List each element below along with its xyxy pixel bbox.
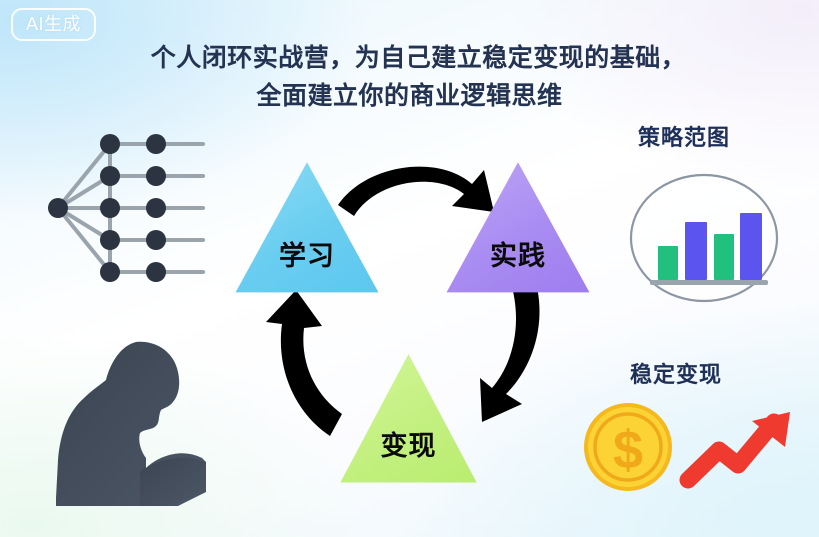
chart-bar-1	[658, 246, 678, 280]
chart-baseline	[650, 280, 768, 285]
cycle-node-practice[interactable]: 实践	[442, 158, 594, 298]
cycle-node-learn[interactable]: 学习	[231, 158, 383, 298]
chart-bar-4	[740, 213, 762, 280]
learning-cycle-diagram: 学习 实践 变现	[226, 150, 596, 495]
strategy-label: 策略范图	[638, 120, 730, 152]
page-title: 个人闭环实战营，为自己建立稳定变现的基础， 全面建立你的商业逻辑思维	[0, 40, 819, 115]
chart-bar-2	[685, 222, 707, 280]
trending-up-arrow-icon	[688, 422, 774, 480]
cycle-node-monetize[interactable]: 变现	[336, 350, 481, 488]
bar-chart-circle-icon	[624, 172, 784, 304]
network-tree-icon	[38, 125, 213, 290]
cycle-node-practice-label: 实践	[442, 234, 594, 273]
poster-canvas: AI生成 个人闭环实战营，为自己建立稳定变现的基础， 全面建立你的商业逻辑思维	[0, 0, 819, 537]
page-title-line-2: 全面建立你的商业逻辑思维	[0, 78, 819, 116]
svg-text:$: $	[613, 420, 643, 480]
chart-bar-3	[714, 234, 734, 280]
triangle-shape-learn	[231, 158, 383, 298]
monetize-label: 稳定变现	[630, 357, 722, 389]
monetize-icons: $	[580, 392, 800, 502]
triangle-shape-practice	[442, 158, 594, 298]
ai-generated-badge: AI生成	[11, 8, 96, 41]
cycle-node-learn-label: 学习	[231, 234, 383, 273]
cycle-node-monetize-label: 变现	[336, 424, 481, 463]
dollar-coin-icon: $	[584, 403, 672, 491]
person-reading-icon	[28, 330, 238, 525]
triangle-shape-monetize	[336, 350, 481, 488]
page-title-line-1: 个人闭环实战营，为自己建立稳定变现的基础，	[0, 40, 819, 78]
arrow-monetize-to-learn	[266, 290, 342, 436]
